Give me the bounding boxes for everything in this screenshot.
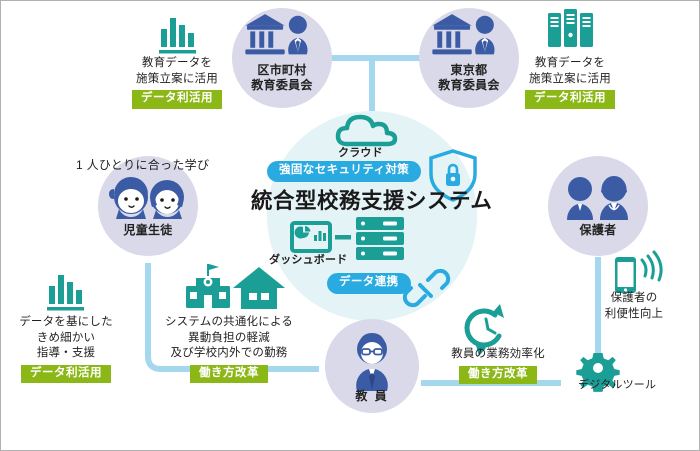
callout-guidance-line2: きめ細かい [10,331,122,347]
badge-work-style-reform: 働き方改革 [459,366,537,385]
callout-school-common-line3: 及び学校内外での勤務 [153,346,305,362]
badge-data-utilization: データ利活用 [21,365,111,384]
node-circle-guardians [548,156,648,256]
diagram-canvas: 区市町村 教育委員会 東京都 教育委員会 児童生徒 保護者 教 員 クラウド 強… [0,0,700,451]
smartphone-signal-icon [615,252,661,293]
bar-chart-icon-guidance [47,275,84,311]
node-label-tokyo-board-line1: 東京都 [419,63,519,78]
connector-boards-to-center [319,58,425,111]
page-title: 統合型校務支援システム [251,184,492,215]
bar-chart-icon-policy [159,18,196,54]
node-label-city-board: 区市町村 教育委員会 [232,63,332,93]
callout-guidance-line1: データを基にした [10,315,122,331]
callout-policy-left-line1: 教育データを [122,56,232,72]
node-label-students: 児童生徒 [98,223,198,238]
cloud-label: クラウド [338,144,383,160]
node-label-tokyo-board-line2: 教育委員会 [419,78,519,93]
server-stack-icon [356,217,404,260]
callout-policy-left: 教育データを 施策立案に活用 データ利活用 [122,56,232,109]
label-guardian-convenience-line1: 保護者の [589,291,679,307]
server-rack-icon-policy [548,9,593,47]
callout-school-common-line2: 異動負担の軽減 [153,331,305,347]
security-pill: 強固なセキュリティ対策 [267,161,421,182]
callout-policy-right-line1: 教育データを [515,56,625,72]
callout-school-common-line1: システムの共通化による [153,315,305,331]
callout-efficiency-line1: 教員の業務効率化 [428,347,568,363]
node-label-city-board-line2: 教育委員会 [232,78,332,93]
node-label-teacher: 教 員 [322,389,422,404]
school-home-icon [186,264,285,309]
callout-efficiency: 教員の業務効率化 働き方改革 [428,347,568,384]
callout-guidance-line3: 指導・支援 [10,346,122,362]
node-circle-tokyo-board [419,8,519,108]
node-label-tokyo-board: 東京都 教育委員会 [419,63,519,93]
node-label-city-board-line1: 区市町村 [232,63,332,78]
dashboard-label: ダッシュボード [269,251,347,267]
label-guardian-convenience-line2: 利便性向上 [589,307,679,323]
callout-policy-right: 教育データを 施策立案に活用 データ利活用 [515,56,625,109]
callout-guidance: データを基にした きめ細かい 指導・支援 データ利活用 [10,315,122,383]
badge-data-utilization: データ利活用 [525,90,615,109]
data-link-pill: データ連携 [327,273,411,294]
badge-data-utilization: データ利活用 [132,90,222,109]
label-guardian-convenience: 保護者の 利便性向上 [589,291,679,322]
callout-school-common: システムの共通化による 異動負担の軽減 及び学校内外での勤務 働き方改革 [153,315,305,383]
badge-work-style-reform: 働き方改革 [190,365,268,384]
node-circle-city-board [232,8,332,108]
callout-policy-left-line2: 施策立案に活用 [122,72,232,88]
node-label-guardians: 保護者 [548,223,648,238]
dashboard-server-connector [335,235,351,240]
label-digital-tool: デジタルツール [578,376,656,392]
callout-policy-right-line2: 施策立案に活用 [515,72,625,88]
label-personalized-learning: 1 人ひとりに合った学び [76,156,209,173]
